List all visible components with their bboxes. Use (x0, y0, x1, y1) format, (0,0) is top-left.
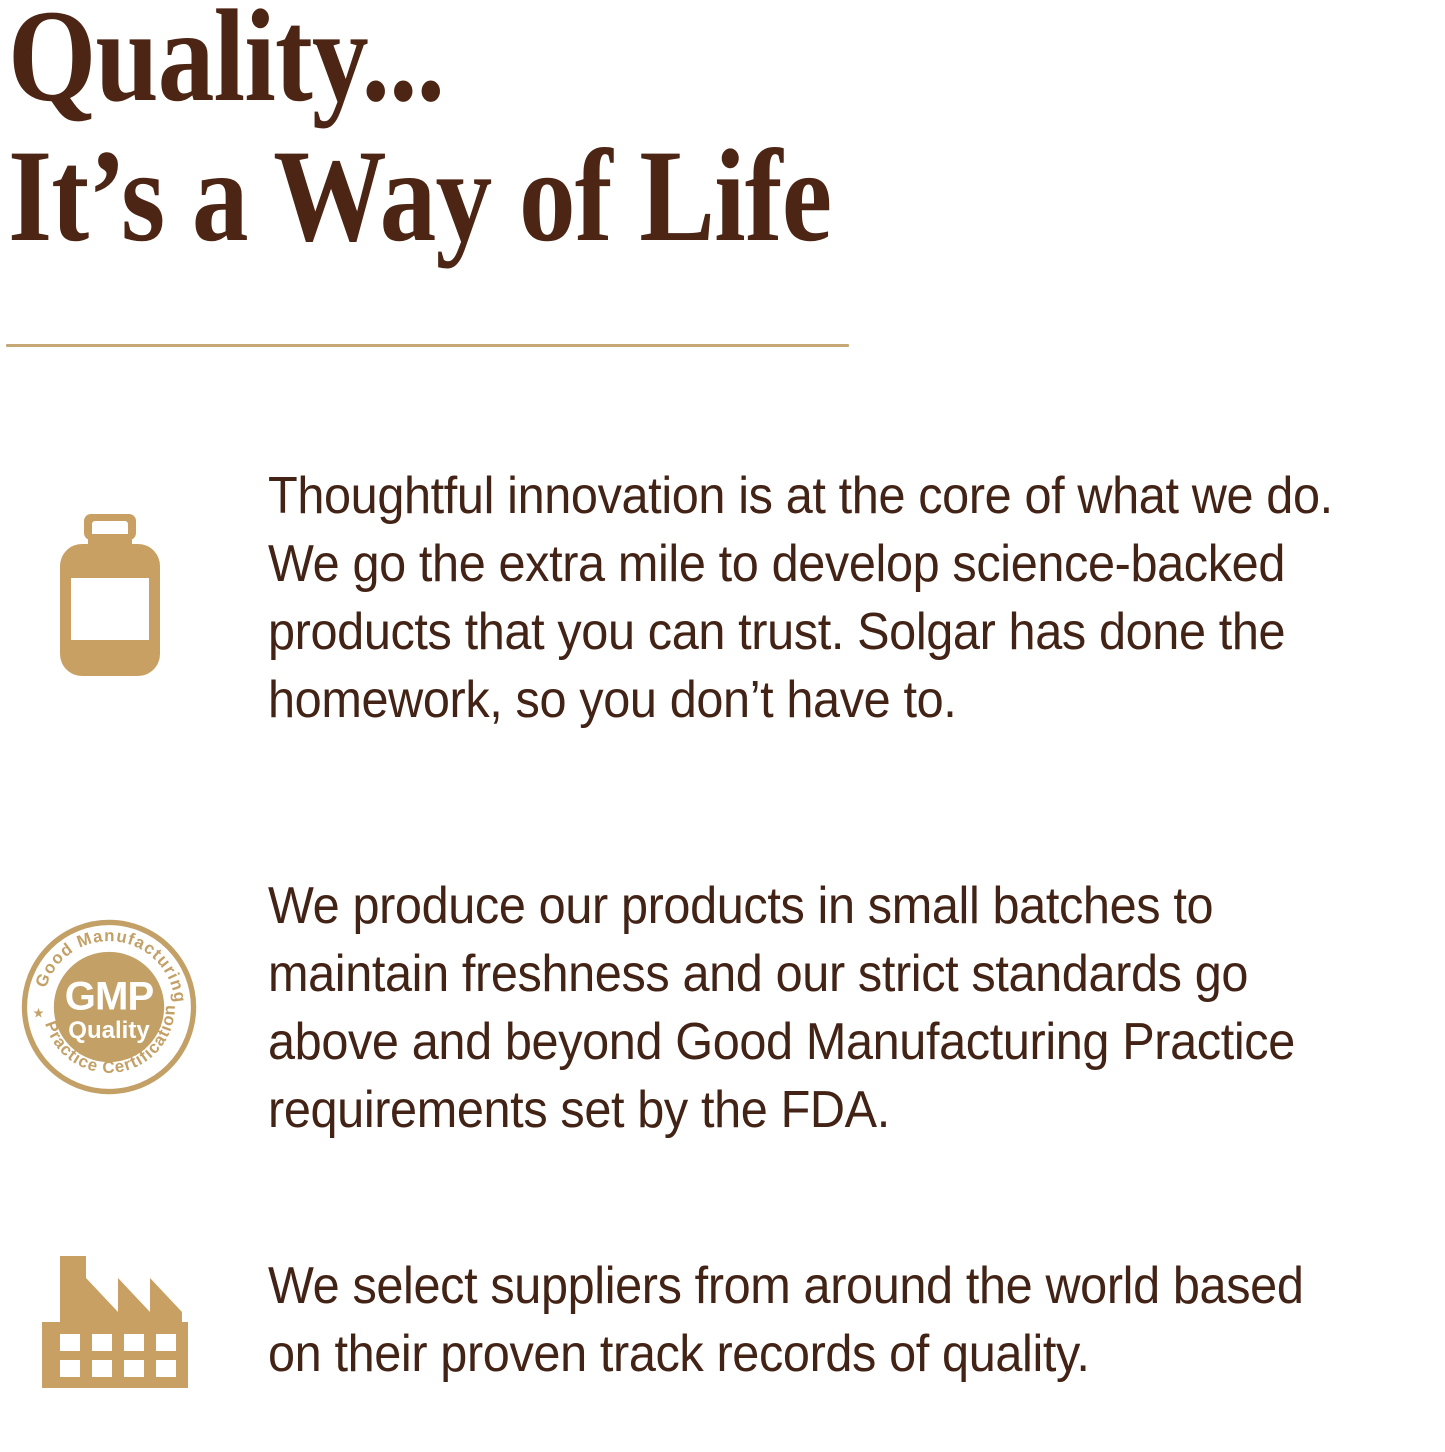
page-title-line-2: It’s a Way of Life (8, 126, 1126, 266)
feature-icon-slot: Good Manufacturing Practice Certificatio… (0, 872, 250, 1072)
page-title-line-1: Quality... (8, 0, 1126, 126)
gmp-quality-seal-icon: Good Manufacturing Practice Certificatio… (20, 918, 198, 1096)
feature-icon-slot (0, 462, 250, 662)
divider (6, 344, 849, 347)
feature-text-innovation: Thoughtful innovation is at the core of … (268, 462, 1367, 734)
feature-text-suppliers: We select suppliers from around the worl… (268, 1252, 1367, 1388)
factory-icon (40, 1252, 190, 1392)
feature-text-manufacturing: We produce our products in small batches… (268, 872, 1367, 1144)
gmp-seal-center-primary: GMP (65, 975, 154, 1019)
gmp-seal-star-icon: ★ (32, 1007, 44, 1022)
page-title: Quality... It’s a Way of Life (8, 0, 1308, 266)
supplement-bottle-icon (58, 514, 162, 676)
gmp-seal-center-secondary: Quality (68, 1017, 150, 1044)
quality-promo-page: Quality... It’s a Way of Life Thoughtful… (0, 0, 1445, 1413)
feature-icon-slot (0, 1252, 250, 1452)
